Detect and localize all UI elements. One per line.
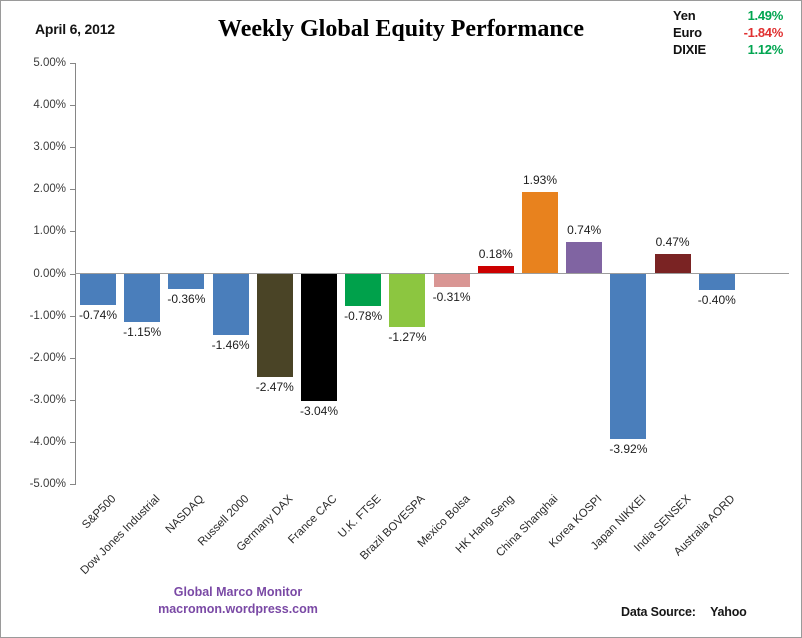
bar-hk-hang-seng: [478, 266, 514, 274]
bar-russell-2000: [213, 274, 249, 335]
x-axis-category-label: U.K. FTSE: [336, 493, 383, 540]
y-axis-tick: [70, 189, 76, 190]
bar-brazil-bovespa: [389, 274, 425, 327]
bar-australia-aord: [699, 274, 735, 291]
data-source: Data Source: Yahoo: [621, 605, 747, 619]
bar-mexico-bolsa: [434, 274, 470, 287]
watermark: Global Marco Monitor macromon.wordpress.…: [123, 584, 353, 618]
y-axis-tick: [70, 231, 76, 232]
bar-value-label: 0.47%: [656, 235, 690, 249]
currency-value: 1.49%: [748, 7, 783, 24]
bar-value-label: 1.93%: [523, 173, 557, 187]
bar-value-label: -2.47%: [256, 380, 294, 394]
currency-value: -1.84%: [744, 24, 783, 41]
y-axis-tick-label: -4.00%: [8, 436, 66, 448]
y-axis-tick-label: 2.00%: [8, 183, 66, 195]
bar-value-label: -1.46%: [212, 338, 250, 352]
bar-value-label: -3.92%: [609, 442, 647, 456]
y-axis-tick-label: 0.00%: [8, 268, 66, 280]
x-axis-category-label: Dow Jones Industrial: [79, 493, 163, 577]
y-axis-tick-label: -3.00%: [8, 394, 66, 406]
bar-germany-dax: [257, 274, 293, 378]
data-source-value: Yahoo: [710, 605, 747, 619]
bar-value-label: 0.18%: [479, 247, 513, 261]
watermark-line-2: macromon.wordpress.com: [123, 601, 353, 618]
bar-korea-kospi: [566, 242, 602, 273]
bar-value-label: -0.36%: [167, 292, 205, 306]
chart-canvas: April 6, 2012 Weekly Global Equity Perfo…: [0, 0, 802, 638]
y-axis-tick-label: -2.00%: [8, 352, 66, 364]
bar-india-sensex: [655, 254, 691, 274]
y-axis-tick-label: -1.00%: [8, 310, 66, 322]
y-axis-tick: [70, 316, 76, 317]
bar-nasdaq: [168, 274, 204, 289]
bar-japan-nikkei: [610, 274, 646, 439]
y-axis-tick-label: -5.00%: [8, 478, 66, 490]
data-source-label: Data Source:: [621, 605, 696, 619]
bar-value-label: -1.27%: [388, 330, 426, 344]
y-axis-tick: [70, 63, 76, 64]
x-axis-category-label: NASDAQ: [164, 493, 207, 536]
currency-name: Yen: [673, 7, 696, 24]
y-axis-tick-label: 1.00%: [8, 225, 66, 237]
currency-name: Euro: [673, 24, 702, 41]
plot-area: [75, 63, 789, 483]
currency-name: DIXIE: [673, 41, 706, 58]
bar-value-label: -0.74%: [79, 308, 117, 322]
y-axis-tick: [70, 358, 76, 359]
bar-value-label: -0.40%: [698, 293, 736, 307]
watermark-line-1: Global Marco Monitor: [123, 584, 353, 601]
bar-china-shanghai: [522, 192, 558, 273]
bar-value-label: -1.15%: [123, 325, 161, 339]
y-axis-tick: [70, 105, 76, 106]
y-axis-tick: [70, 274, 76, 275]
bar-value-label: -0.78%: [344, 309, 382, 323]
bar-value-label: -3.04%: [300, 404, 338, 418]
y-axis-tick: [70, 400, 76, 401]
currency-value: 1.12%: [748, 41, 783, 58]
y-axis-labels: 5.00%4.00%3.00%2.00%1.00%0.00%-1.00%-2.0…: [4, 1, 66, 638]
y-axis-tick-label: 3.00%: [8, 141, 66, 153]
y-axis-tick-label: 5.00%: [8, 57, 66, 69]
currency-row-dixie: DIXIE1.12%: [669, 41, 789, 58]
x-axis-category-label: S&P500: [80, 493, 118, 531]
currency-row-euro: Euro-1.84%: [669, 24, 789, 41]
bar-u-k-ftse: [345, 274, 381, 307]
y-axis-tick-label: 4.00%: [8, 99, 66, 111]
currency-row-yen: Yen1.49%: [669, 7, 789, 24]
bar-s-p500: [80, 274, 116, 305]
bar-dow-jones-industrial: [124, 274, 160, 322]
bar-value-label: -0.31%: [433, 290, 471, 304]
y-axis-tick: [70, 147, 76, 148]
y-axis-tick: [70, 442, 76, 443]
bar-value-label: 0.74%: [567, 223, 601, 237]
y-axis-tick: [70, 484, 76, 485]
bar-france-cac: [301, 274, 337, 402]
currency-summary-panel: Yen1.49%Euro-1.84%DIXIE1.12%: [669, 7, 789, 58]
